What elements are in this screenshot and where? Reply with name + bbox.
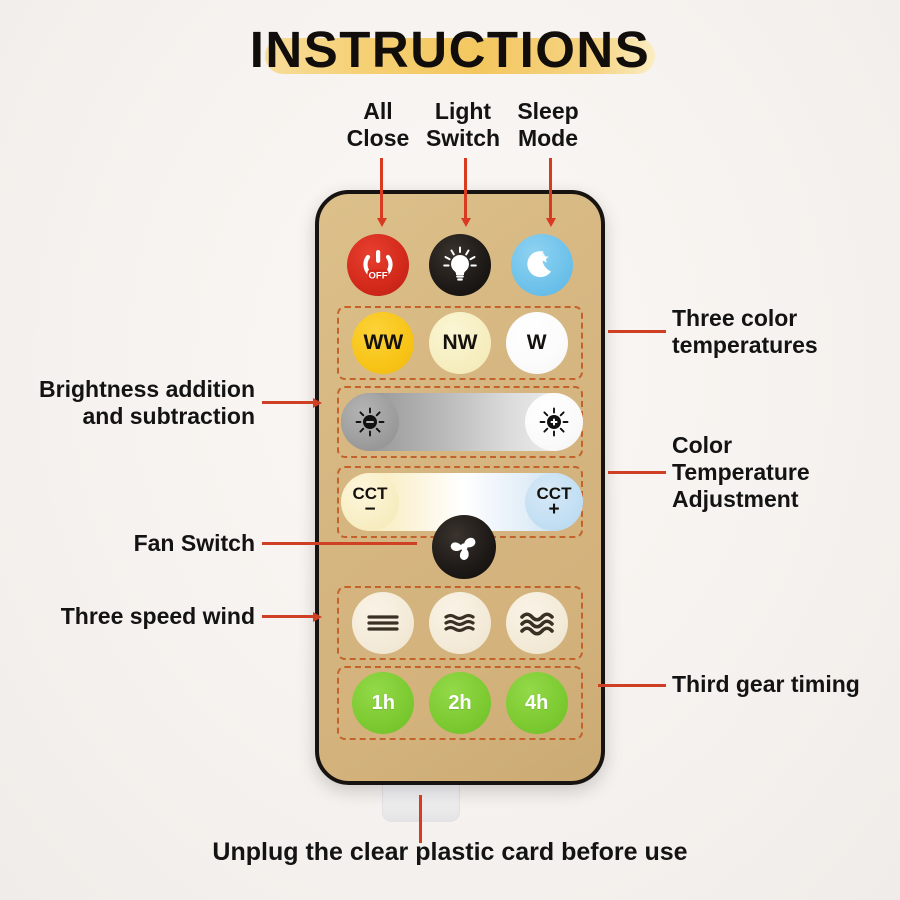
fan-switch-button[interactable] xyxy=(432,515,496,579)
brightness-slider-bar[interactable] xyxy=(341,393,583,451)
callout-light-switch: Light Switch xyxy=(415,98,511,152)
leader-line-cct-adjust xyxy=(608,471,666,474)
leader-line-fan-switch xyxy=(262,542,417,545)
leader-arrow-all-close xyxy=(377,218,387,227)
remote-control-body: OFF xyxy=(315,190,605,785)
row-wind-speeds xyxy=(337,586,583,660)
callout-three-speed-wind: Three speed wind xyxy=(35,603,255,630)
wind-speed-low-button[interactable] xyxy=(352,592,414,654)
leader-arrow-brightness xyxy=(313,398,322,408)
leader-line-light-switch xyxy=(464,158,467,220)
large-waves-icon xyxy=(517,608,557,638)
leader-line-three-color-temps xyxy=(608,330,666,333)
timer-2h-button[interactable]: 2h xyxy=(429,672,491,734)
row-timers: 1h 2h 4h xyxy=(337,666,583,740)
button-w-label: W xyxy=(527,331,547,355)
leader-line-third-gear-timing xyxy=(598,684,666,687)
leader-arrow-sleep-mode xyxy=(546,218,556,227)
callout-color-temperature-adjustment: Color Temperature Adjustment xyxy=(672,432,882,513)
fan-icon xyxy=(443,526,485,568)
power-off-button[interactable]: OFF xyxy=(347,234,409,296)
light-bulb-icon xyxy=(439,244,481,286)
timer-1h-label: 1h xyxy=(372,692,395,715)
cct-minus-sign: − xyxy=(364,502,375,518)
leader-arrow-three-speed-wind xyxy=(313,612,322,622)
small-waves-icon xyxy=(440,608,480,638)
cct-minus-button[interactable]: CCT − xyxy=(341,473,399,531)
leader-line-brightness xyxy=(262,401,314,404)
button-ww[interactable]: WW xyxy=(352,312,414,374)
callout-three-color-temperatures: Three color temperatures xyxy=(672,305,892,359)
wind-speed-medium-button[interactable] xyxy=(429,592,491,654)
power-off-label: OFF xyxy=(369,271,388,282)
brightness-down-button[interactable] xyxy=(341,393,399,451)
callout-third-gear-timing: Third gear timing xyxy=(672,671,900,698)
timer-4h-button[interactable]: 4h xyxy=(506,672,568,734)
leader-arrow-light-switch xyxy=(461,218,471,227)
brightness-up-button[interactable] xyxy=(525,393,583,451)
page-title: INSTRUCTIONS xyxy=(250,20,651,79)
cct-plus-sign: + xyxy=(548,502,559,518)
leader-line-three-speed-wind xyxy=(262,615,314,618)
timer-2h-label: 2h xyxy=(448,692,471,715)
power-off-icon: OFF xyxy=(358,245,398,285)
moon-star-icon xyxy=(522,245,562,285)
sleep-mode-button[interactable] xyxy=(511,234,573,296)
timer-4h-label: 4h xyxy=(525,692,548,715)
brightness-up-icon xyxy=(538,406,570,438)
button-nw-label: NW xyxy=(442,331,477,355)
light-switch-button[interactable] xyxy=(429,234,491,296)
button-nw[interactable]: NW xyxy=(429,312,491,374)
callout-sleep-mode: Sleep Mode xyxy=(500,98,596,152)
cct-plus-button[interactable]: CCT + xyxy=(525,473,583,531)
leader-line-all-close xyxy=(380,158,383,220)
straight-lines-icon xyxy=(363,608,403,638)
footer-caption: Unplug the clear plastic card before use xyxy=(0,838,900,867)
callout-all-close: All Close xyxy=(330,98,426,152)
leader-line-sleep-mode xyxy=(549,158,552,220)
button-ww-label: WW xyxy=(364,331,404,355)
callout-brightness-addition-subtraction: Brightness addition and subtraction xyxy=(20,376,255,430)
button-w[interactable]: W xyxy=(506,312,568,374)
callout-fan-switch: Fan Switch xyxy=(60,530,255,557)
leader-line-plastic-card xyxy=(419,795,422,843)
row-main-controls: OFF xyxy=(319,232,601,298)
timer-1h-button[interactable]: 1h xyxy=(352,672,414,734)
wind-speed-high-button[interactable] xyxy=(506,592,568,654)
row-color-temperatures: WW NW W xyxy=(337,306,583,380)
brightness-down-icon xyxy=(354,406,386,438)
page-title-wrap: INSTRUCTIONS xyxy=(0,10,900,88)
